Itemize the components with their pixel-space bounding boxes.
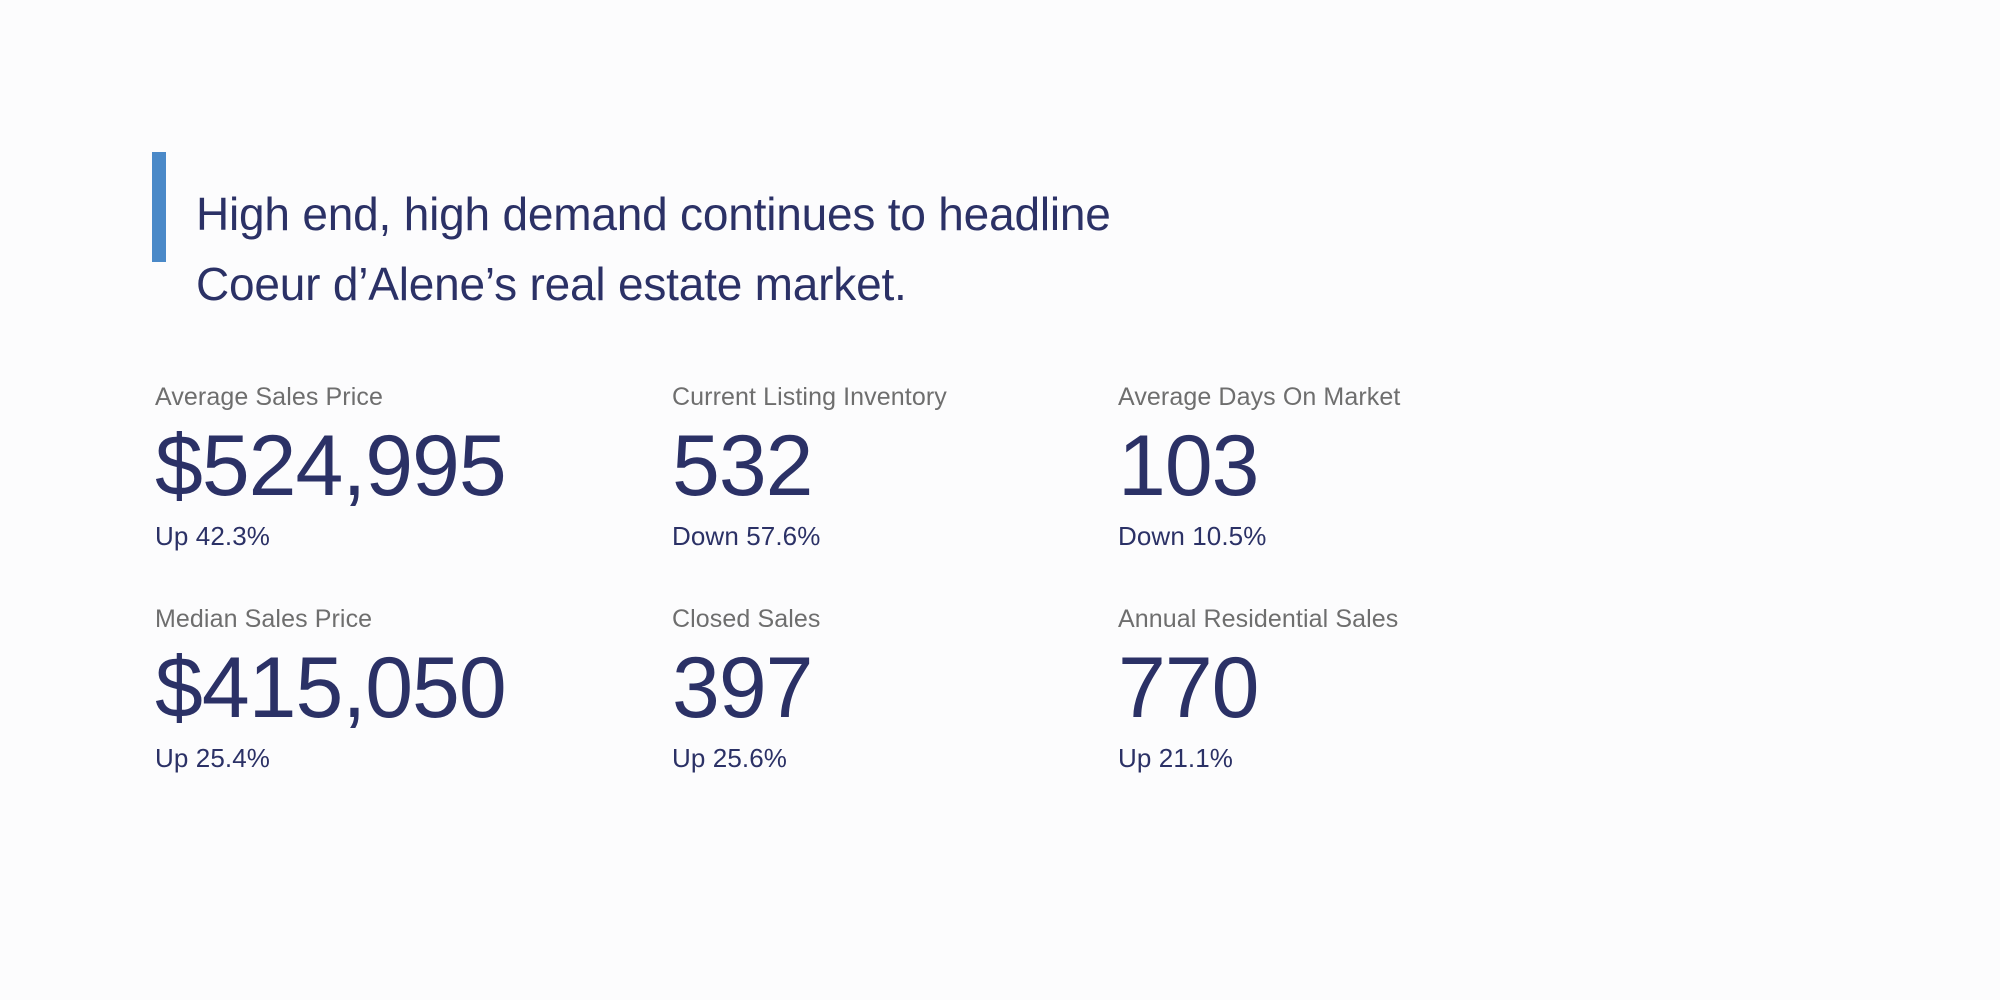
stat-card-closed-sales: Closed Sales 397 Up 25.6% — [672, 604, 1118, 774]
stat-value: $524,995 — [155, 414, 672, 518]
stat-card-average-sales-price: Average Sales Price $524,995 Up 42.3% — [155, 382, 672, 552]
stat-label: Current Listing Inventory — [672, 382, 1118, 412]
stat-label: Average Sales Price — [155, 382, 672, 412]
stat-card-current-listing-inventory: Current Listing Inventory 532 Down 57.6% — [672, 382, 1118, 552]
stat-change: Down 57.6% — [672, 520, 1118, 552]
page-title: High end, high demand continues to headl… — [196, 179, 1111, 319]
stat-label: Median Sales Price — [155, 604, 672, 634]
stat-change: Up 25.6% — [672, 742, 1118, 774]
accent-bar — [152, 152, 166, 262]
headline-block: High end, high demand continues to headl… — [152, 148, 1111, 350]
stat-change: Down 10.5% — [1118, 520, 1638, 552]
stat-label: Average Days On Market — [1118, 382, 1638, 412]
stat-label: Annual Residential Sales — [1118, 604, 1638, 634]
stat-change: Up 25.4% — [155, 742, 672, 774]
stat-change: Up 42.3% — [155, 520, 672, 552]
stat-change: Up 21.1% — [1118, 742, 1638, 774]
stat-label: Closed Sales — [672, 604, 1118, 634]
stat-value: 532 — [672, 414, 1118, 518]
stat-value: 770 — [1118, 636, 1638, 740]
stats-grid: Average Sales Price $524,995 Up 42.3% Cu… — [155, 382, 1638, 774]
stat-value: 397 — [672, 636, 1118, 740]
stat-value: $415,050 — [155, 636, 672, 740]
stat-card-average-days-on-market: Average Days On Market 103 Down 10.5% — [1118, 382, 1638, 552]
market-report-page: High end, high demand continues to headl… — [0, 0, 2000, 1000]
stat-value: 103 — [1118, 414, 1638, 518]
stat-card-median-sales-price: Median Sales Price $415,050 Up 25.4% — [155, 604, 672, 774]
stat-card-annual-residential-sales: Annual Residential Sales 770 Up 21.1% — [1118, 604, 1638, 774]
